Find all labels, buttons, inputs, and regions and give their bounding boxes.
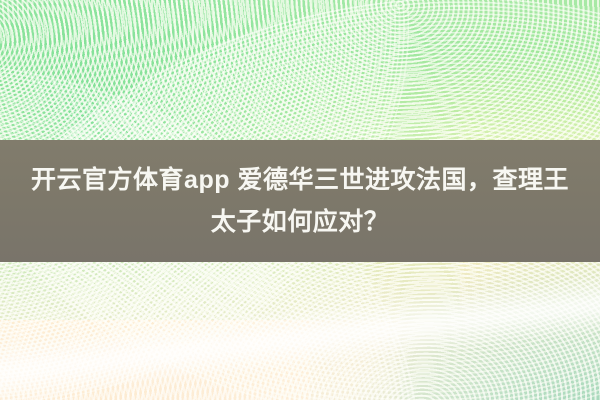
promo-banner: 开云官方体育app 爱德华三世进攻法国，查理王 太子如何应对？ [0, 0, 600, 400]
caption-line-1: 开云官方体育app 爱德华三世进攻法国，查理王 [31, 159, 569, 201]
caption-line-2: 太子如何应对？ [211, 201, 390, 243]
caption-band: 开云官方体育app 爱德华三世进攻法国，查理王 太子如何应对？ [0, 140, 600, 262]
